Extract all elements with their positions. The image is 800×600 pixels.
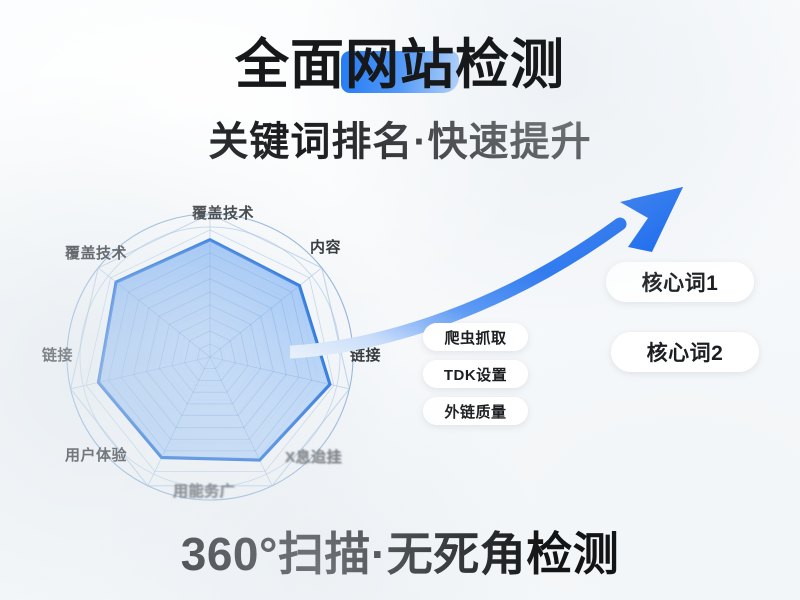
poster-canvas: 全面网站检测 关键词排名·快速提升 覆盖技术 内容 链接 X息迨挂 用能 [0, 0, 800, 600]
pill-keyword-2-label: 核心词2 [647, 337, 724, 367]
pill-crawl-label: 爬虫抓取 [444, 327, 506, 348]
radar-axis-label-left: 链接 [42, 344, 73, 365]
pill-keyword-1[interactable]: 核心词1 [606, 262, 754, 302]
radar-chart: 覆盖技术 内容 链接 X息迨挂 用能务广 用户体验 链接 覆盖技术 [20, 192, 400, 522]
radar-axis-label-bottom: 用能务广 [173, 480, 235, 501]
page-title: 全面网站检测 [0, 34, 800, 96]
radar-axis-label-lower-left: 用户体验 [65, 444, 127, 465]
pill-keyword-1-label: 核心词1 [642, 267, 719, 297]
radar-axis-label-top: 覆盖技术 [192, 202, 254, 223]
radar-axis-label-upper-left: 覆盖技术 [65, 242, 127, 263]
radar-axis-label-upper-right: 内容 [310, 236, 341, 257]
radar-axis-label-right: 链接 [350, 344, 381, 365]
page-footer-title: 360°扫描·无死角检测 [0, 525, 800, 583]
pill-external-link[interactable]: 外链质量 [423, 397, 528, 425]
pill-tdk-label: TDK设置 [444, 364, 507, 385]
pill-crawl[interactable]: 爬虫抓取 [423, 323, 528, 351]
page-title-text: 全面网站检测 [235, 35, 565, 95]
page-subtitle: 关键词排名·快速提升 [0, 117, 800, 167]
pill-keyword-2[interactable]: 核心词2 [611, 332, 759, 372]
pill-tdk[interactable]: TDK设置 [423, 360, 528, 388]
radar-axis-label-lower-right: X息迨挂 [285, 446, 342, 467]
pill-external-link-label: 外链质量 [444, 401, 506, 422]
